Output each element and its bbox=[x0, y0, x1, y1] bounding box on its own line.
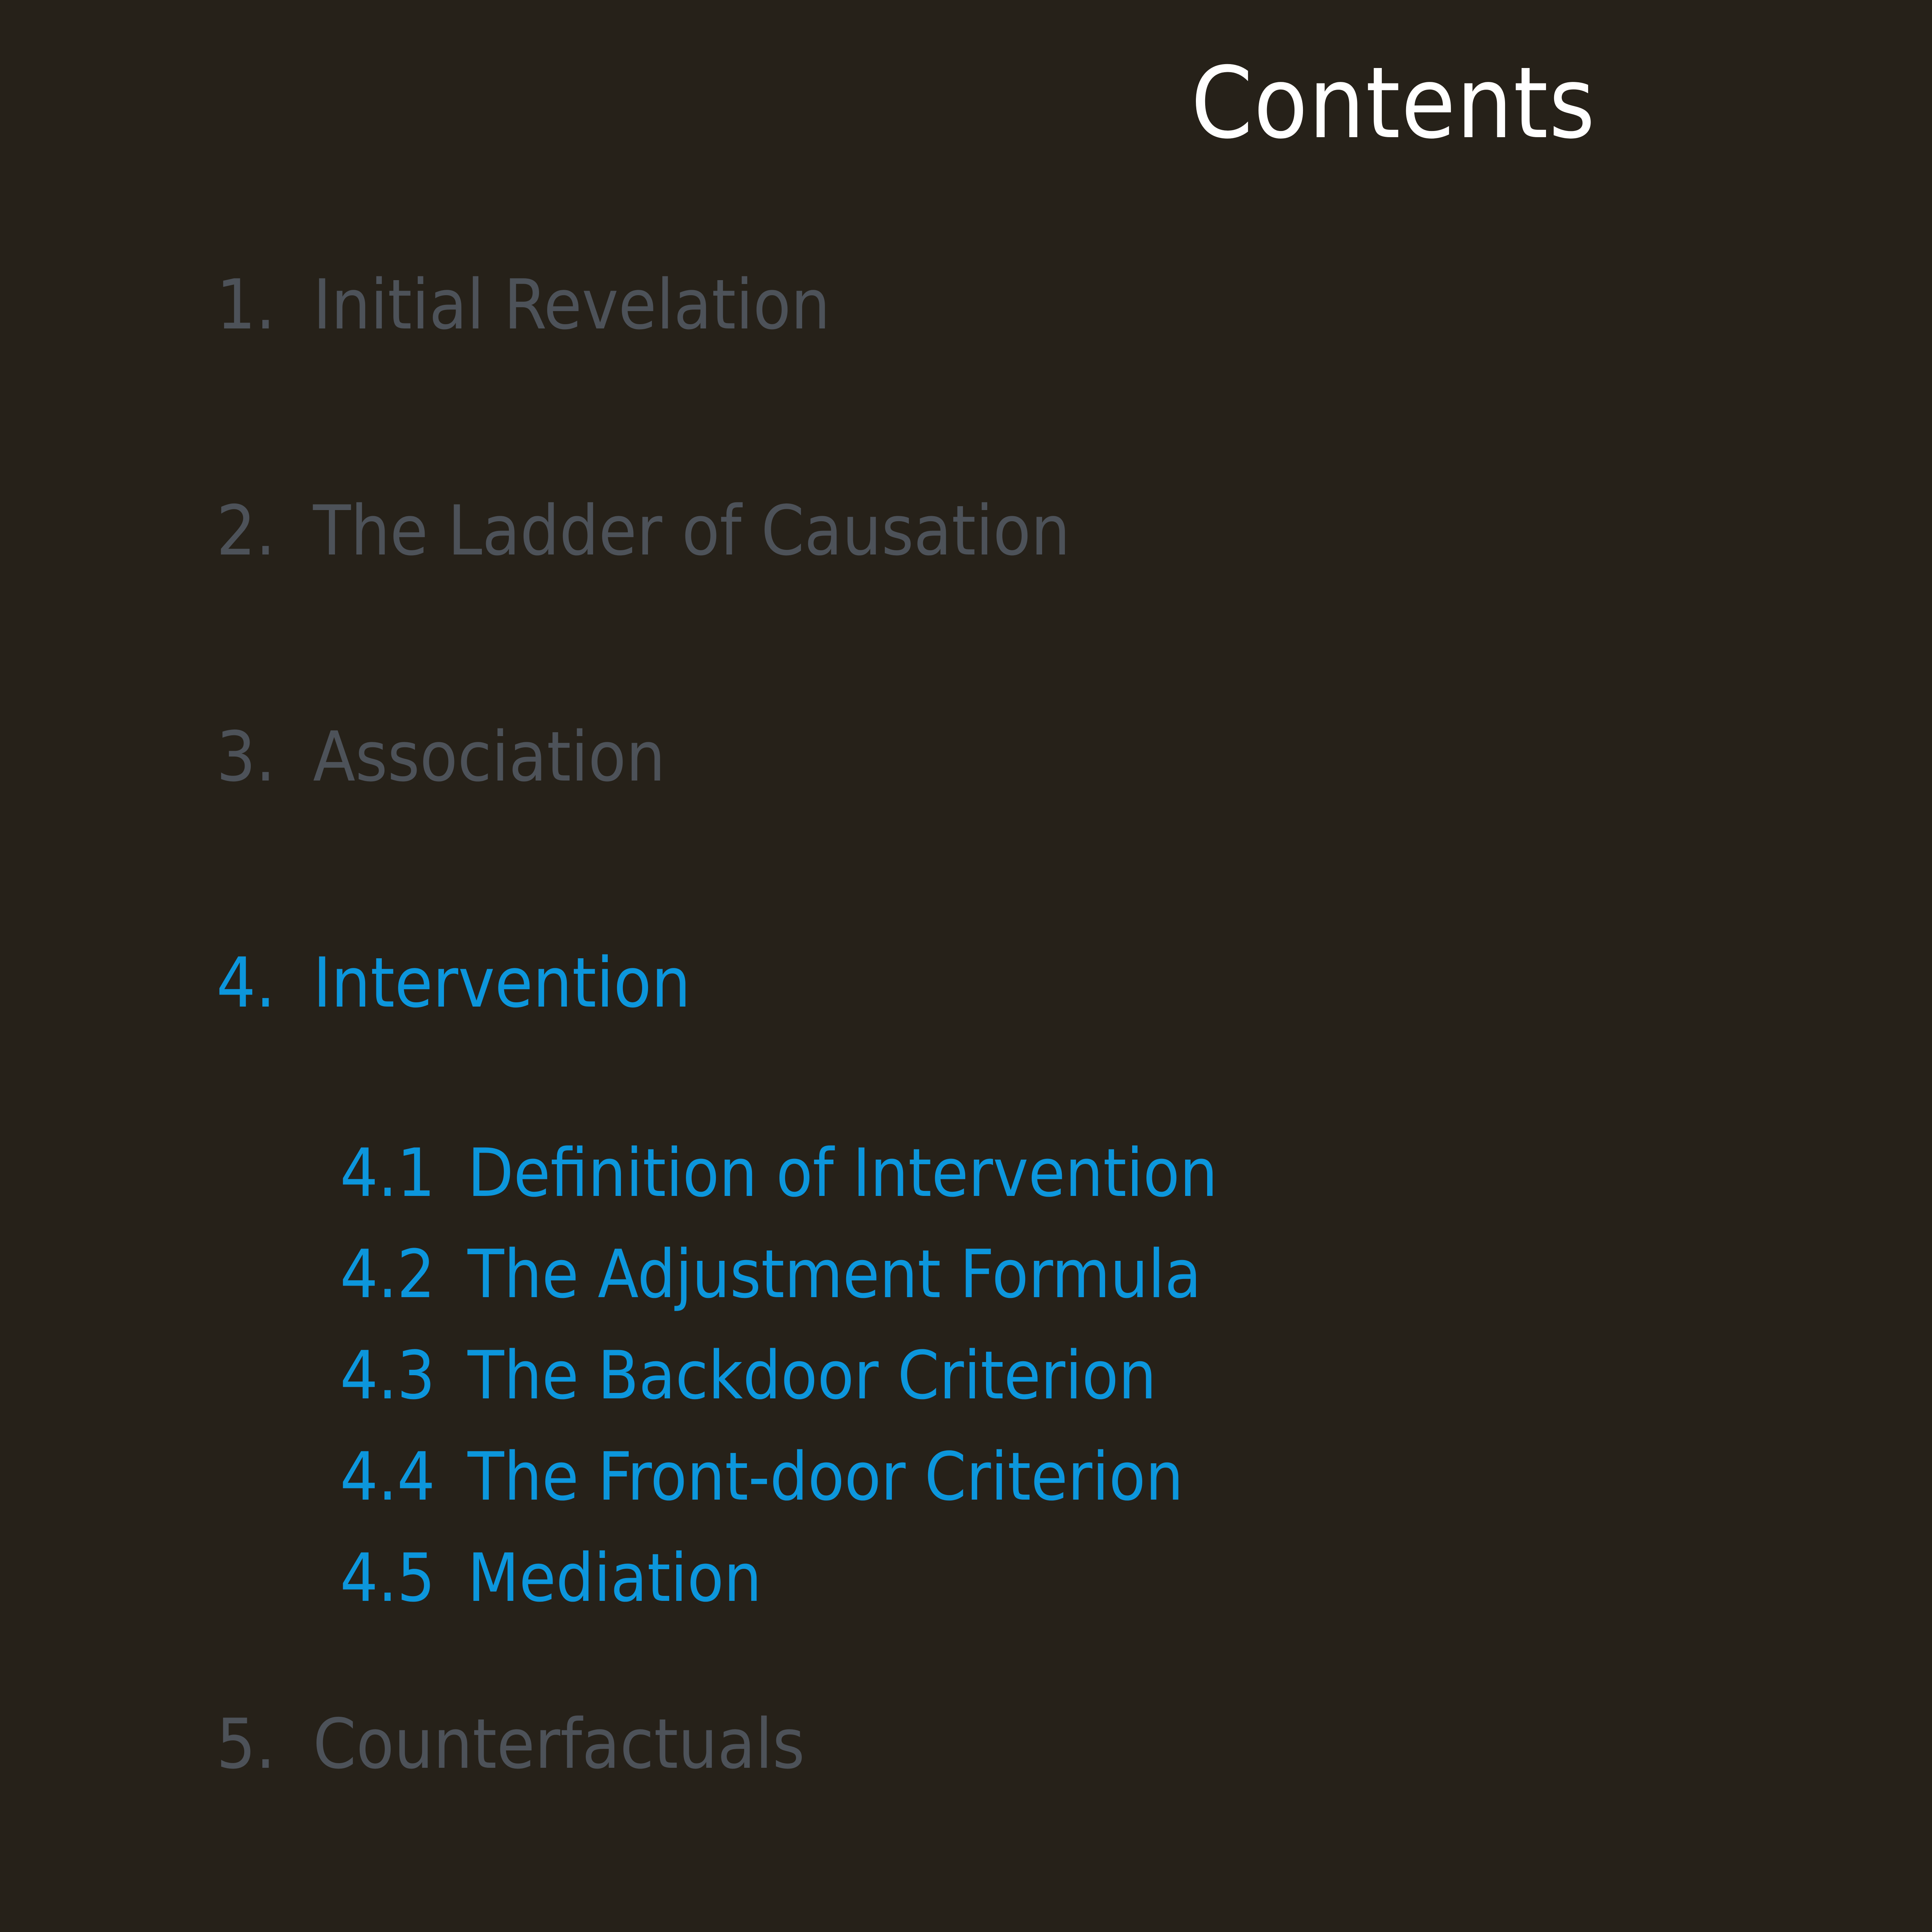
toc-subsection-label: The Adjustment Formula bbox=[468, 1235, 1201, 1313]
toc-section-number: 3. bbox=[216, 723, 298, 791]
toc-section-label: The Ladder of Causation bbox=[313, 497, 1070, 565]
toc-section-number: 2. bbox=[216, 497, 298, 565]
toc-section-row[interactable]: 3.Association bbox=[0, 723, 1855, 811]
toc-section-label: Association bbox=[313, 723, 665, 791]
toc-section-number: 1. bbox=[216, 270, 298, 339]
toc-subsection-row[interactable]: 4.3The Backdoor Criterion bbox=[0, 1337, 1855, 1438]
toc-subsection-number: 4.2 bbox=[340, 1235, 435, 1313]
toc-entry[interactable]: 1.Initial Revelation bbox=[0, 270, 1855, 497]
toc-section-row[interactable]: 1.Initial Revelation bbox=[0, 270, 1855, 359]
toc-section-label: Initial Revelation bbox=[313, 270, 830, 339]
toc-subsection-number: 4.3 bbox=[340, 1337, 435, 1414]
beamer-slide: Contents 1.Initial Revelation2.The Ladde… bbox=[0, 0, 1932, 1932]
page-title: Contents bbox=[0, 54, 1932, 153]
toc-subsection-label: The Front-door Criterion bbox=[468, 1438, 1184, 1515]
toc-entry[interactable]: 3.Association bbox=[0, 723, 1855, 949]
toc-subsection-row[interactable]: 4.5Mediation bbox=[0, 1539, 1855, 1640]
toc-entry[interactable]: 5.Counterfactuals bbox=[0, 1710, 1855, 1932]
toc-entry[interactable]: 2.The Ladder of Causation bbox=[0, 497, 1855, 723]
toc-subsection-number: 4.1 bbox=[340, 1134, 435, 1212]
toc-subsection-label: Mediation bbox=[468, 1539, 762, 1617]
toc-section-row[interactable]: 2.The Ladder of Causation bbox=[0, 497, 1855, 585]
toc-subsection-list: 4.1Definition of Intervention4.2The Adju… bbox=[0, 1134, 1855, 1640]
toc-section-label: Intervention bbox=[313, 949, 690, 1017]
toc-subsection-label: Definition of Intervention bbox=[468, 1134, 1218, 1212]
toc-section-row[interactable]: 5.Counterfactuals bbox=[0, 1710, 1855, 1799]
toc-subsection-row[interactable]: 4.4The Front-door Criterion bbox=[0, 1438, 1855, 1539]
toc-section-number: 5. bbox=[216, 1710, 298, 1779]
toc-section-row[interactable]: 4.Intervention bbox=[0, 949, 1855, 1037]
toc-subsection-number: 4.4 bbox=[340, 1438, 435, 1515]
toc-subsection-label: The Backdoor Criterion bbox=[468, 1337, 1156, 1414]
toc-subsection-row[interactable]: 4.1Definition of Intervention bbox=[0, 1134, 1855, 1235]
toc-subsection-number: 4.5 bbox=[340, 1539, 435, 1617]
table-of-contents: 1.Initial Revelation2.The Ladder of Caus… bbox=[0, 270, 1855, 1932]
toc-entry[interactable]: 4.Intervention4.1Definition of Intervent… bbox=[0, 949, 1855, 1710]
toc-subsection-row[interactable]: 4.2The Adjustment Formula bbox=[0, 1235, 1855, 1337]
toc-section-label: Counterfactuals bbox=[313, 1710, 805, 1779]
toc-section-number: 4. bbox=[216, 949, 298, 1017]
